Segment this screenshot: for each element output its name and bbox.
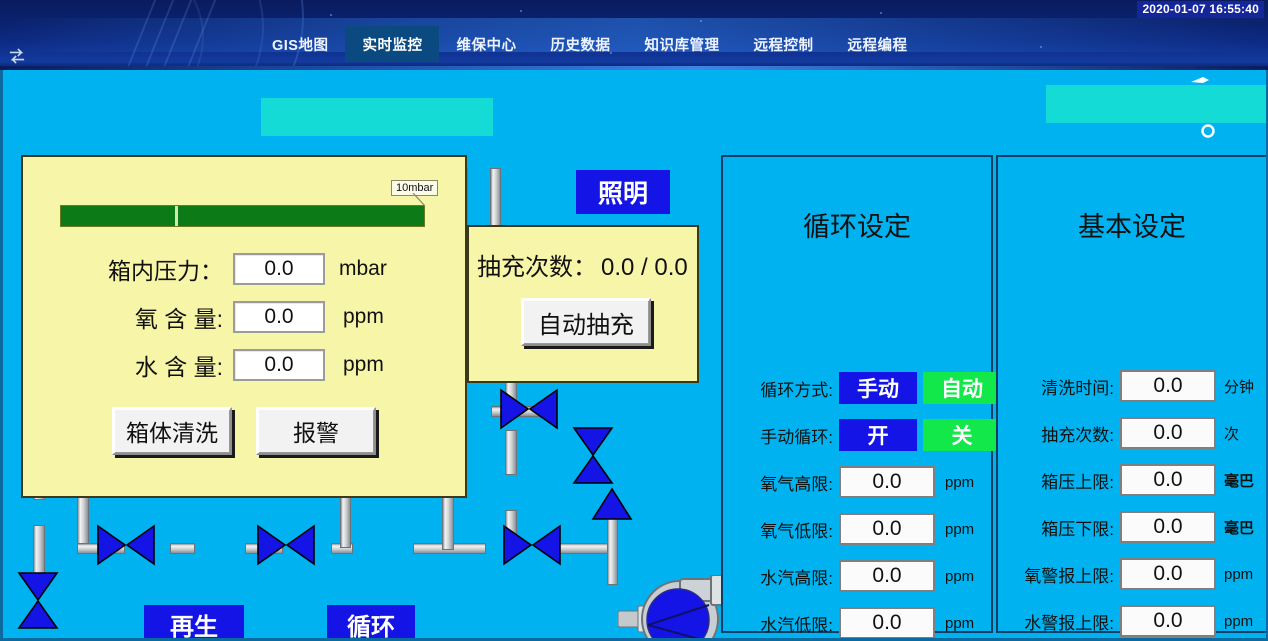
pipe-segment xyxy=(77,490,89,550)
vacuum-pump-icon[interactable] xyxy=(618,575,723,641)
unit-oxygen-high-limit: ppm xyxy=(945,474,974,491)
unit-moisture-high-limit: ppm xyxy=(945,568,974,585)
input-oxygen-low-limit[interactable]: 0.0 xyxy=(839,513,935,545)
gauge-tag-pointer xyxy=(412,193,428,209)
basic-settings-title: 基本设定 xyxy=(998,205,1266,244)
cycle-mode-auto-button[interactable]: 自动 xyxy=(923,372,1001,404)
auto-purge-button[interactable]: 自动抽充 xyxy=(521,298,651,346)
decorative-speck xyxy=(700,20,702,22)
unit-clean-time: 分钟 xyxy=(1224,376,1254,397)
main-navigation: GIS地图 实时监控 维保中心 历史数据 知识库管理 远程控制 远程编程 xyxy=(255,26,924,62)
nav-tab-remote-control[interactable]: 远程控制 xyxy=(736,26,830,62)
circulation-box[interactable]: 循环 xyxy=(327,605,415,641)
swap-arrows-icon[interactable] xyxy=(8,48,26,64)
valve-v2[interactable] xyxy=(255,523,317,567)
value-oxygen-content[interactable]: 0.0 xyxy=(233,301,325,333)
datetime-display: 2020-01-07 16:55:40 xyxy=(1137,1,1264,18)
pipe-segment xyxy=(607,510,618,585)
decorative-speck xyxy=(880,12,882,14)
circle-glyph-icon xyxy=(1199,122,1217,140)
valve-v3[interactable] xyxy=(501,523,563,567)
label-water-content: 水 含 量: xyxy=(91,348,223,382)
valve-v5-vertical[interactable] xyxy=(571,425,615,487)
decorative-speck xyxy=(520,10,522,12)
manual-cycle-close-button[interactable]: 关 xyxy=(923,419,1001,451)
chamber-clean-button[interactable]: 箱体清洗 xyxy=(112,407,232,455)
unit-purge-count-setting: 次 xyxy=(1224,423,1239,444)
cycle-mode-manual-button[interactable]: 手动 xyxy=(839,372,917,404)
alarm-button[interactable]: 报警 xyxy=(256,407,376,455)
nav-tab-knowledge-base[interactable]: 知识库管理 xyxy=(627,26,736,62)
input-moisture-high-limit[interactable]: 0.0 xyxy=(839,560,935,592)
label-oxygen-content: 氧 含 量: xyxy=(91,300,223,334)
cycle-settings-title: 循环设定 xyxy=(723,205,991,244)
blank-display-block-left xyxy=(261,98,493,136)
unit-oxygen-content: ppm xyxy=(343,305,384,329)
input-moisture-low-limit[interactable]: 0.0 xyxy=(839,607,935,639)
unit-chamber-pressure-low: 毫巴 xyxy=(1224,517,1254,538)
nav-tab-remote-programming[interactable]: 远程编程 xyxy=(830,26,924,62)
basic-settings-panel: 基本设定 清洗时间: 0.0 分钟 抽充次数: 0.0 次 箱压上限: 0.0 … xyxy=(996,155,1268,633)
value-chamber-pressure[interactable]: 0.0 xyxy=(233,253,325,285)
nav-tab-history-data[interactable]: 历史数据 xyxy=(533,26,627,62)
device-glyph-icon xyxy=(1189,74,1215,86)
label-clean-time: 清洗时间: xyxy=(1006,374,1114,399)
label-oxygen-high-limit: 氧气高限: xyxy=(735,470,833,495)
manual-cycle-open-button[interactable]: 开 xyxy=(839,419,917,451)
pipe-segment xyxy=(170,543,195,554)
input-clean-time[interactable]: 0.0 xyxy=(1120,370,1216,402)
label-oxygen-alarm-limit: 氧警报上限: xyxy=(1000,562,1114,587)
label-chamber-pressure-low: 箱压下限: xyxy=(1006,515,1114,540)
input-water-alarm-limit[interactable]: 0.0 xyxy=(1120,605,1216,637)
pressure-gauge-marker xyxy=(175,206,178,226)
nav-tab-maintenance-center[interactable]: 维保中心 xyxy=(439,26,533,62)
label-water-alarm-limit: 水警报上限: xyxy=(1000,609,1114,634)
input-chamber-pressure-high[interactable]: 0.0 xyxy=(1120,464,1216,496)
label-manual-cycle: 手动循环: xyxy=(735,423,833,448)
pressure-gauge-fill xyxy=(61,206,424,226)
lighting-button[interactable]: 照明 xyxy=(576,170,670,214)
value-purge-count: 0.0 / 0.0 xyxy=(601,254,688,281)
pressure-gauge-bar xyxy=(60,205,425,227)
unit-oxygen-low-limit: ppm xyxy=(945,521,974,538)
mimic-diagram-canvas: 再生 循环 工作气 净化柱 风机 真空泵 10mbar 箱内压力： 0.0 mb… xyxy=(0,70,1268,641)
blank-display-block-right xyxy=(1046,85,1268,123)
vent-arrow-icon xyxy=(589,487,635,521)
input-oxygen-high-limit[interactable]: 0.0 xyxy=(839,466,935,498)
decorative-speck xyxy=(1040,46,1042,48)
label-purge-count: 抽充次数：0.0 / 0.0 xyxy=(477,247,688,282)
unit-chamber-pressure: mbar xyxy=(339,257,387,281)
nav-tab-realtime-monitor[interactable]: 实时监控 xyxy=(345,26,439,62)
unit-chamber-pressure-high: 毫巴 xyxy=(1224,470,1254,491)
input-oxygen-alarm-limit[interactable]: 0.0 xyxy=(1120,558,1216,590)
label-purge-count-setting: 抽充次数: xyxy=(1006,421,1114,446)
label-chamber-pressure-high: 箱压上限: xyxy=(1006,468,1114,493)
regeneration-box[interactable]: 再生 xyxy=(144,605,244,641)
decorative-speck xyxy=(330,14,332,16)
valve-v4[interactable] xyxy=(498,387,560,431)
label-moisture-high-limit: 水汽高限: xyxy=(735,564,833,589)
purge-cycle-panel: 抽充次数：0.0 / 0.0 自动抽充 xyxy=(467,225,699,383)
input-chamber-pressure-low[interactable]: 0.0 xyxy=(1120,511,1216,543)
hmi-screen: GIS地图 实时监控 维保中心 历史数据 知识库管理 远程控制 远程编程 202… xyxy=(0,0,1268,641)
unit-water-alarm-limit: ppm xyxy=(1224,613,1253,630)
pipe-segment xyxy=(505,430,517,475)
unit-moisture-low-limit: ppm xyxy=(945,615,974,632)
unit-oxygen-alarm-limit: ppm xyxy=(1224,566,1253,583)
label-chamber-pressure: 箱内压力： xyxy=(91,252,223,286)
top-header-bar: GIS地图 实时监控 维保中心 历史数据 知识库管理 远程控制 远程编程 202… xyxy=(0,0,1268,70)
valve-v1[interactable] xyxy=(95,523,157,567)
valve-working-gas[interactable] xyxy=(16,570,60,632)
label-cycle-mode: 循环方式: xyxy=(735,376,833,401)
value-water-content[interactable]: 0.0 xyxy=(233,349,325,381)
unit-water-content: ppm xyxy=(343,353,384,377)
label-moisture-low-limit: 水汽低限: xyxy=(735,611,833,636)
input-purge-count-setting[interactable]: 0.0 xyxy=(1120,417,1216,449)
nav-tab-gis-map[interactable]: GIS地图 xyxy=(255,26,345,62)
label-oxygen-low-limit: 氧气低限: xyxy=(735,517,833,542)
cycle-settings-panel: 循环设定 循环方式: 手动 自动 手动循环: 开 关 氧气高限: 0.0 ppm… xyxy=(721,155,993,633)
chamber-status-panel: 10mbar 箱内压力： 0.0 mbar 氧 含 量: 0.0 ppm 水 含… xyxy=(21,155,467,498)
